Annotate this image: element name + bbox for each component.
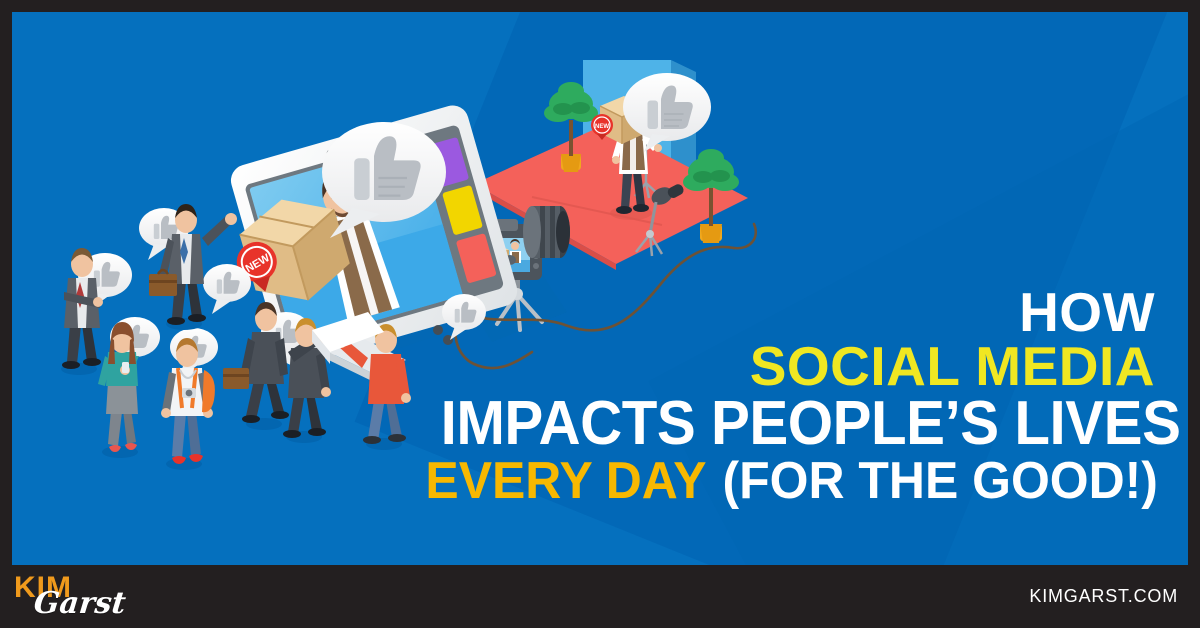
- brand-logo[interactable]: KIM Garst: [14, 571, 144, 627]
- poster-canvas: NEW: [12, 12, 1188, 565]
- headline-line-3: IMPACTS PEOPLE’S LIVES: [441, 395, 1155, 452]
- footer-bar: KIM Garst KIMGARST.COM: [0, 565, 1200, 628]
- headline-line-1: HOW: [395, 287, 1155, 338]
- thumbs-up-bubble-3: [203, 264, 251, 314]
- headline-line-2: SOCIAL MEDIA: [395, 341, 1155, 392]
- camera-lens: [523, 206, 570, 258]
- brand-logo-garst: Garst: [32, 589, 127, 619]
- person-woman-phone: [98, 322, 139, 458]
- headline-block: HOW SOCIAL MEDIA IMPACTS PEOPLE’S LIVES …: [395, 287, 1155, 506]
- svg-text:NEW: NEW: [595, 124, 609, 130]
- headline-parenthetical: (FOR THE GOOD!): [723, 452, 1158, 510]
- poster-frame: NEW: [0, 0, 1200, 628]
- headline-line-4: EVERY DAY(FOR THE GOOD!): [425, 458, 1155, 506]
- headline-accent-every-day: EVERY DAY: [425, 452, 706, 510]
- website-url[interactable]: KIMGARST.COM: [1029, 565, 1178, 628]
